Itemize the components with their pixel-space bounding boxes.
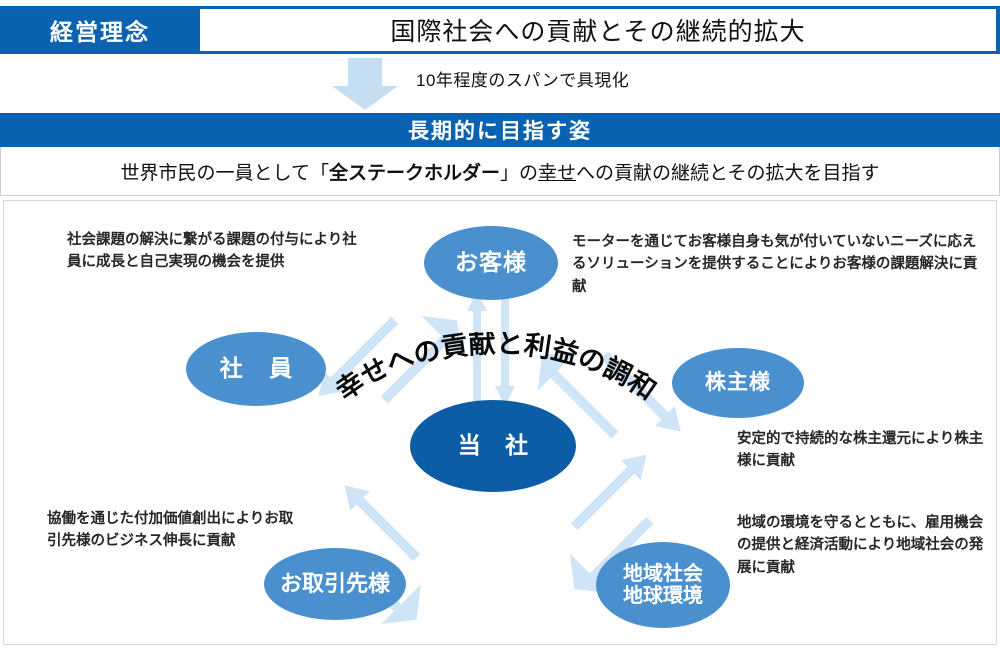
node-customer[interactable]: お客様 <box>424 226 558 300</box>
philosophy-statement: 国際社会への貢献とその継続的拡大 <box>200 9 996 51</box>
span-caption: 10年程度のスパンで具現化 <box>416 66 629 91</box>
description-customer: モーターを通じてお客様自身も気が付いていないニーズに応えるソリューションを提供す… <box>572 231 982 298</box>
node-community[interactable]: 地域社会 地球環境 <box>596 542 730 628</box>
arrow-to-company-from-employee <box>361 300 477 416</box>
vision-statement-underline: 幸せ <box>538 158 576 185</box>
node-supplier[interactable]: お取引先様 <box>264 548 406 620</box>
node-company[interactable]: 当 社 <box>410 400 576 492</box>
node-shareholder[interactable]: 株主様 <box>672 348 804 418</box>
vision-header: 長期的に目指す姿 <box>0 113 1000 147</box>
vision-statement-suffix: への貢献の継続とその拡大を目指す <box>576 158 879 185</box>
philosophy-label: 経営理念 <box>0 6 200 54</box>
vision-statement: 世界市民の一員として「全ステークホルダー」の幸せへの貢献の継続とその拡大を目指す <box>0 147 1000 196</box>
philosophy-band: 経営理念 国際社会への貢献とその継続的拡大 <box>0 6 1000 54</box>
arrow-up-to-customer <box>467 291 487 406</box>
arrow-down-to-company <box>495 291 515 406</box>
description-employee: 社会課題の解決に繋がる課題の付与により社員に成長と自己実現の機会を提供 <box>67 229 367 274</box>
down-arrow-icon <box>332 58 398 110</box>
description-shareholder: 安定的で持続的な株主還元により株主様に貢献 <box>737 428 992 473</box>
node-community-line1: 地域社会 <box>623 563 703 585</box>
description-community: 地域の環境を守るとともに、雇用機会の提供と経済活動により地域社会の発展に貢献 <box>737 512 995 579</box>
vision-statement-bold: 全ステークホルダー <box>329 158 500 185</box>
vision-statement-mid: 」の <box>500 158 538 185</box>
vision-statement-prefix: 世界市民の一員として「 <box>121 158 329 185</box>
arrow-to-community <box>564 445 656 537</box>
description-supplier: 協働を通じた付加価値創出によりお取引先様のビジネス伸長に貢献 <box>47 508 307 553</box>
node-community-line2: 地球環境 <box>623 585 703 607</box>
node-employee[interactable]: 社 員 <box>186 332 326 406</box>
